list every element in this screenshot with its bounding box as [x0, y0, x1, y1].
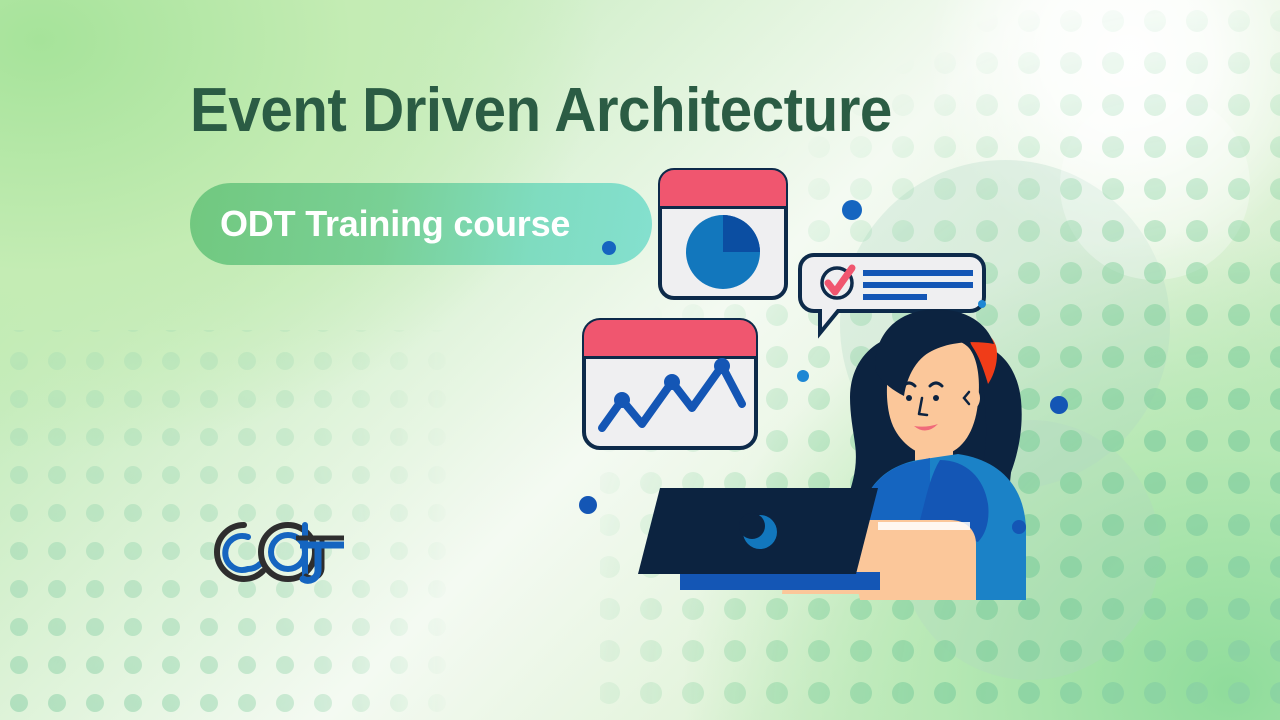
- page-title: Event Driven Architecture: [190, 75, 892, 146]
- odt-logo[interactable]: ODT: [210, 515, 350, 590]
- accent-dot-1: [842, 200, 862, 220]
- accent-dot-6: [978, 300, 986, 308]
- accent-dot-4: [1050, 396, 1068, 414]
- laptop-base: [680, 572, 880, 590]
- banner-canvas: Event Driven Architecture ODT Training c…: [0, 0, 1280, 720]
- line-chart-card: [584, 320, 756, 448]
- accent-dot-2: [797, 370, 809, 382]
- pie-chart-card: [660, 170, 786, 298]
- course-badge-label: ODT Training course: [220, 203, 570, 245]
- accent-dot-3: [579, 496, 597, 514]
- accent-dot-5: [1012, 520, 1026, 534]
- hero-illustration: [560, 160, 1080, 600]
